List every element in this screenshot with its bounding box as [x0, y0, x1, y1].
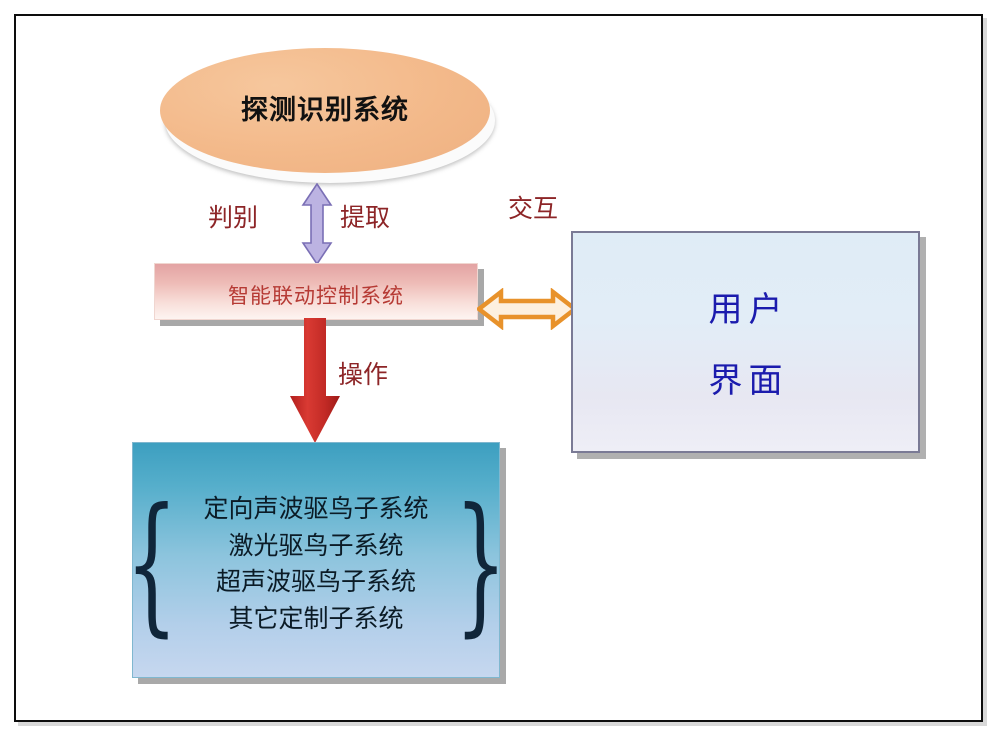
list-item[interactable]: 超声波驱鸟子系统 [204, 565, 429, 600]
subsystem-brace-group: { 定向声波驱鸟子系统 激光驱鸟子系统 超声波驱鸟子系统 其它定制子系统 } [104, 492, 528, 636]
ui-node-label-line2: 界面 [703, 353, 789, 402]
edge-label-panbie: 判别 [208, 198, 258, 234]
right-brace: } [454, 506, 506, 623]
ui-node-label-line1: 用户 [703, 282, 789, 331]
list-item[interactable]: 其它定制子系统 [204, 602, 429, 637]
user-interface-node[interactable]: 用户 界面 [571, 231, 920, 453]
edge-label-tiqu: 提取 [340, 198, 390, 234]
diagram-canvas: 探测识别系统 判别 提取 智能联动控制系统 操作 [0, 0, 1005, 739]
control-node-label: 智能联动控制系统 [228, 280, 404, 310]
list-item[interactable]: 定向声波驱鸟子系统 [204, 492, 429, 527]
edge-label-jiaohu: 交互 [508, 195, 538, 223]
subsystem-node[interactable]: { 定向声波驱鸟子系统 激光驱鸟子系统 超声波驱鸟子系统 其它定制子系统 } [132, 442, 500, 678]
bidirectional-vertical-arrow [300, 183, 334, 265]
left-brace: { [126, 506, 178, 623]
list-item[interactable]: 激光驱鸟子系统 [204, 529, 429, 564]
subsystem-list: 定向声波驱鸟子系统 激光驱鸟子系统 超声波驱鸟子系统 其它定制子系统 [202, 492, 431, 636]
edge-label-caozuo: 操作 [338, 355, 388, 391]
detection-recognition-node[interactable]: 探测识别系统 [160, 48, 490, 173]
operation-arrow [288, 318, 342, 444]
bidirectional-horizontal-arrow [477, 288, 577, 330]
detection-node-label: 探测识别系统 [241, 88, 409, 127]
intelligent-linkage-control-node[interactable]: 智能联动控制系统 [154, 263, 478, 320]
